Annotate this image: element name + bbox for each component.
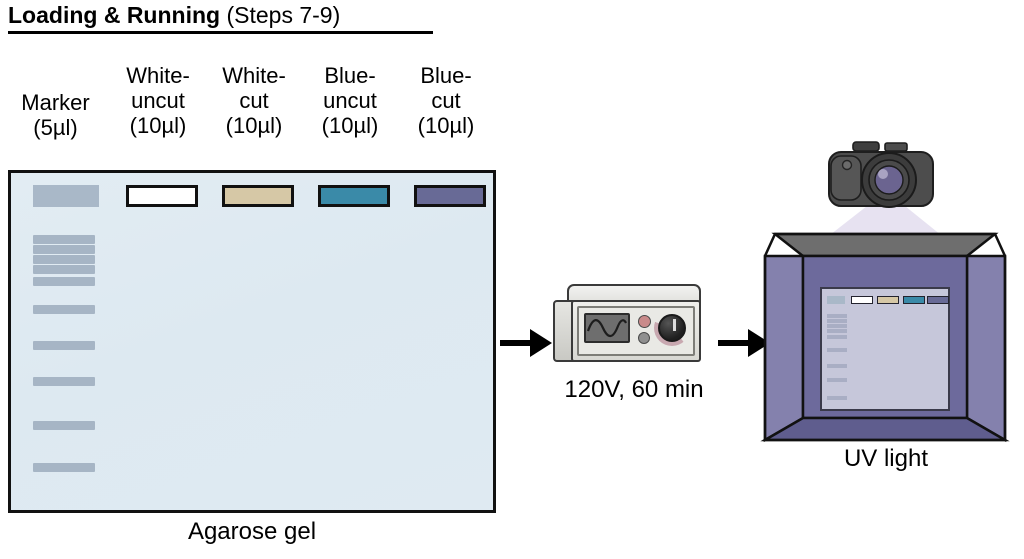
uv-mini-band [827, 329, 847, 333]
uv-mini-well [877, 296, 899, 304]
marker-band [33, 245, 95, 254]
lane-header-white-uncut: White- uncut (10µl) [110, 63, 206, 138]
gel-well-white-uncut [126, 185, 198, 207]
lane-header-blue-uncut-line2: uncut [302, 88, 398, 113]
uv-mini-well [827, 296, 845, 304]
marker-band [33, 265, 95, 274]
gel-caption: Agarose gel [8, 518, 496, 546]
gel-well-blue-uncut [318, 185, 390, 207]
title-underline [8, 31, 433, 34]
diagram-canvas: Loading & Running (Steps 7-9) Marker (5µ… [0, 0, 1024, 559]
lane-header-marker-line2: Marker [8, 90, 103, 115]
uv-mini-band [827, 324, 847, 328]
status-led-icon [638, 332, 650, 344]
title-steps-text: (Steps 7-9) [220, 2, 340, 28]
lane-header-marker: Marker (5µl) [8, 90, 103, 140]
uv-caption: UV light [755, 445, 1017, 473]
marker-band [33, 305, 95, 314]
power-supply-caption: 120V, 60 min [521, 376, 747, 404]
uv-mini-band [827, 348, 847, 352]
uv-mini-well [927, 296, 949, 304]
uv-mini-band [827, 364, 847, 368]
lane-header-blue-cut-line2: cut [398, 88, 494, 113]
lane-header-white-uncut-line2: uncut [110, 88, 206, 113]
lane-header-white-cut: White- cut (10µl) [206, 63, 302, 138]
marker-band [33, 277, 95, 286]
marker-band [33, 255, 95, 264]
agarose-gel [8, 170, 496, 513]
lane-header-blue-cut: Blue- cut (10µl) [398, 63, 494, 138]
uv-transilluminator [755, 128, 1017, 448]
lane-header-blue-cut-line1: Blue- [398, 63, 494, 88]
voltage-knob[interactable] [658, 314, 686, 342]
title-main-text: Loading & Running [8, 2, 220, 28]
knob-marker-icon [673, 319, 676, 331]
power-led-icon [638, 315, 651, 328]
gel-well-white-cut [222, 185, 294, 207]
lane-header-marker-line3: (5µl) [8, 115, 103, 140]
lane-header-blue-uncut: Blue- uncut (10µl) [302, 63, 398, 138]
uv-mini-band [827, 396, 847, 400]
uv-mini-band [827, 314, 847, 318]
lane-header-blue-uncut-line3: (10µl) [302, 113, 398, 138]
lane-header-white-cut-line1: White- [206, 63, 302, 88]
gel-well-marker [33, 185, 99, 207]
uv-mini-gel [821, 288, 949, 410]
uv-mini-well [851, 296, 873, 304]
lane-header-white-cut-line2: cut [206, 88, 302, 113]
uv-mini-band [827, 319, 847, 323]
uv-mini-band [827, 335, 847, 339]
marker-band [33, 377, 95, 386]
lane-header-white-uncut-line3: (10µl) [110, 113, 206, 138]
marker-band [33, 463, 95, 472]
lane-header-blue-uncut-line1: Blue- [302, 63, 398, 88]
uv-mini-well [903, 296, 925, 304]
waveform-display-icon [584, 313, 630, 343]
power-supply [553, 284, 715, 364]
marker-band [33, 421, 95, 430]
marker-band [33, 341, 95, 350]
gel-well-blue-cut [414, 185, 486, 207]
lane-header-blue-cut-line3: (10µl) [398, 113, 494, 138]
lane-header-white-uncut-line1: White- [110, 63, 206, 88]
marker-band [33, 235, 95, 244]
page-title: Loading & Running (Steps 7-9) [8, 2, 438, 28]
lane-header-white-cut-line3: (10µl) [206, 113, 302, 138]
uv-mini-band [827, 378, 847, 382]
